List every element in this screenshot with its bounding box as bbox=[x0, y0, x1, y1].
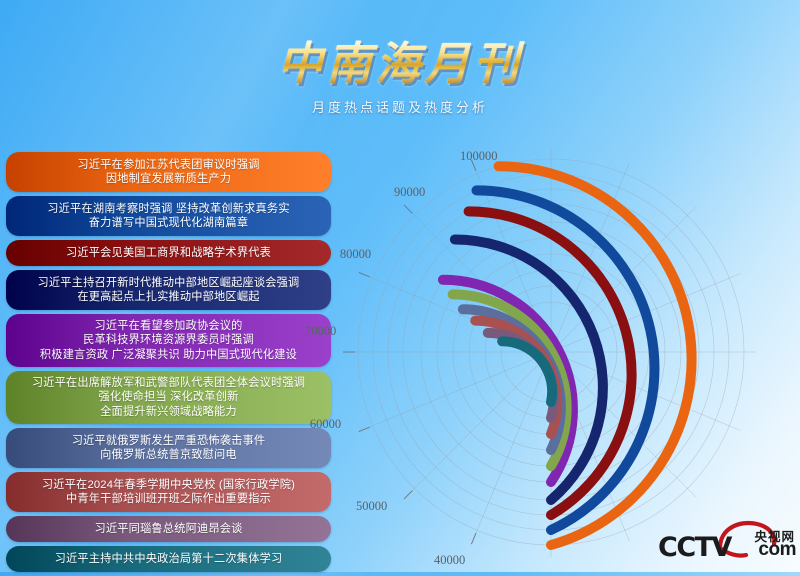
axis-tick bbox=[404, 205, 412, 213]
legend-item-label: 习近平同瑙鲁总统阿迪昂会谈 bbox=[14, 522, 323, 536]
legend-item-label: 习近平在看望参加政协会议的 民革科技界环境资源界委员时强调 积极建言资政 广泛凝… bbox=[14, 319, 323, 362]
axis-tick bbox=[359, 427, 370, 432]
grid-spoke bbox=[473, 352, 551, 541]
legend-item-label: 习近平会见美国工商界和战略学术界代表 bbox=[14, 246, 323, 260]
axis-label: 100000 bbox=[460, 149, 498, 164]
cctv-com-label: com bbox=[758, 539, 796, 561]
legend-item[interactable]: 习近平在参加江苏代表团审议时强调 因地制宜发展新质生产力 bbox=[6, 152, 331, 192]
axis-label: 60000 bbox=[310, 417, 341, 432]
polar-chart-svg bbox=[336, 140, 800, 560]
axis-tick bbox=[404, 491, 412, 499]
polar-chart: 400005000060000700008000090000100000 bbox=[336, 140, 800, 560]
poster-canvas: 中南海月刊 月度热点话题及热度分析 习近平在参加江苏代表团审议时强调 因地制宜发… bbox=[0, 0, 800, 572]
axis-label: 90000 bbox=[394, 185, 425, 200]
grid-spoke bbox=[406, 352, 551, 497]
legend-item[interactable]: 习近平主持中共中央政治局第十二次集体学习 bbox=[6, 546, 331, 572]
legend-item[interactable]: 习近平主持召开新时代推动中部地区崛起座谈会强调 在更高起点上扎实推动中部地区崛起 bbox=[6, 270, 331, 310]
legend-item[interactable]: 习近平在湖南考察时强调 坚持改革创新求真务实 奋力谱写中国式现代化湖南篇章 bbox=[6, 196, 331, 236]
axis-tick bbox=[471, 533, 476, 544]
legend-item[interactable]: 习近平在2024年春季学期中央党校 (国家行政学院) 中青年干部培训班开班之际作… bbox=[6, 472, 331, 512]
cctv-logo: CCTV 央视网 com bbox=[658, 518, 796, 566]
axis-tick bbox=[359, 272, 370, 277]
legend-item-label: 习近平在参加江苏代表团审议时强调 因地制宜发展新质生产力 bbox=[14, 158, 323, 187]
axis-label: 70000 bbox=[305, 324, 336, 339]
axis-label: 50000 bbox=[356, 499, 387, 514]
legend-item-label: 习近平在湖南考察时强调 坚持改革创新求真务实 奋力谱写中国式现代化湖南篇章 bbox=[14, 202, 323, 231]
cctv-wordmark: CCTV bbox=[658, 532, 731, 563]
legend-item-label: 习近平主持中共中央政治局第十二次集体学习 bbox=[14, 552, 323, 566]
header: 中南海月刊 月度热点话题及热度分析 bbox=[0, 40, 800, 116]
legend-item[interactable]: 习近平就俄罗斯发生严重恐怖袭击事件 向俄罗斯总统普京致慰问电 bbox=[6, 428, 331, 468]
page-subtitle: 月度热点话题及热度分析 bbox=[0, 97, 800, 116]
legend-item-label: 习近平主持召开新时代推动中部地区崛起座谈会强调 在更高起点上扎实推动中部地区崛起 bbox=[14, 276, 323, 305]
legend-item[interactable]: 习近平在出席解放军和武警部队代表团全体会议时强调 强化使命担当 深化改革创新 全… bbox=[6, 371, 331, 424]
axis-label: 40000 bbox=[434, 553, 465, 568]
legend-item-label: 习近平在出席解放军和武警部队代表团全体会议时强调 强化使命担当 深化改革创新 全… bbox=[14, 376, 323, 419]
legend-item[interactable]: 习近平同瑙鲁总统阿迪昂会谈 bbox=[6, 516, 331, 542]
legend-list: 习近平在参加江苏代表团审议时强调 因地制宜发展新质生产力习近平在湖南考察时强调 … bbox=[6, 152, 331, 576]
legend-item[interactable]: 习近平在看望参加政协会议的 民革科技界环境资源界委员时强调 积极建言资政 广泛凝… bbox=[6, 314, 331, 367]
page-title: 中南海月刊 bbox=[0, 40, 800, 87]
grid-spoke bbox=[362, 352, 551, 430]
polar-bar[interactable] bbox=[455, 239, 603, 500]
axis-label: 80000 bbox=[340, 247, 371, 262]
legend-item-label: 习近平就俄罗斯发生严重恐怖袭击事件 向俄罗斯总统普京致慰问电 bbox=[14, 434, 323, 463]
legend-item[interactable]: 习近平会见美国工商界和战略学术界代表 bbox=[6, 240, 331, 266]
legend-item-label: 习近平在2024年春季学期中央党校 (国家行政学院) 中青年干部培训班开班之际作… bbox=[14, 478, 323, 507]
